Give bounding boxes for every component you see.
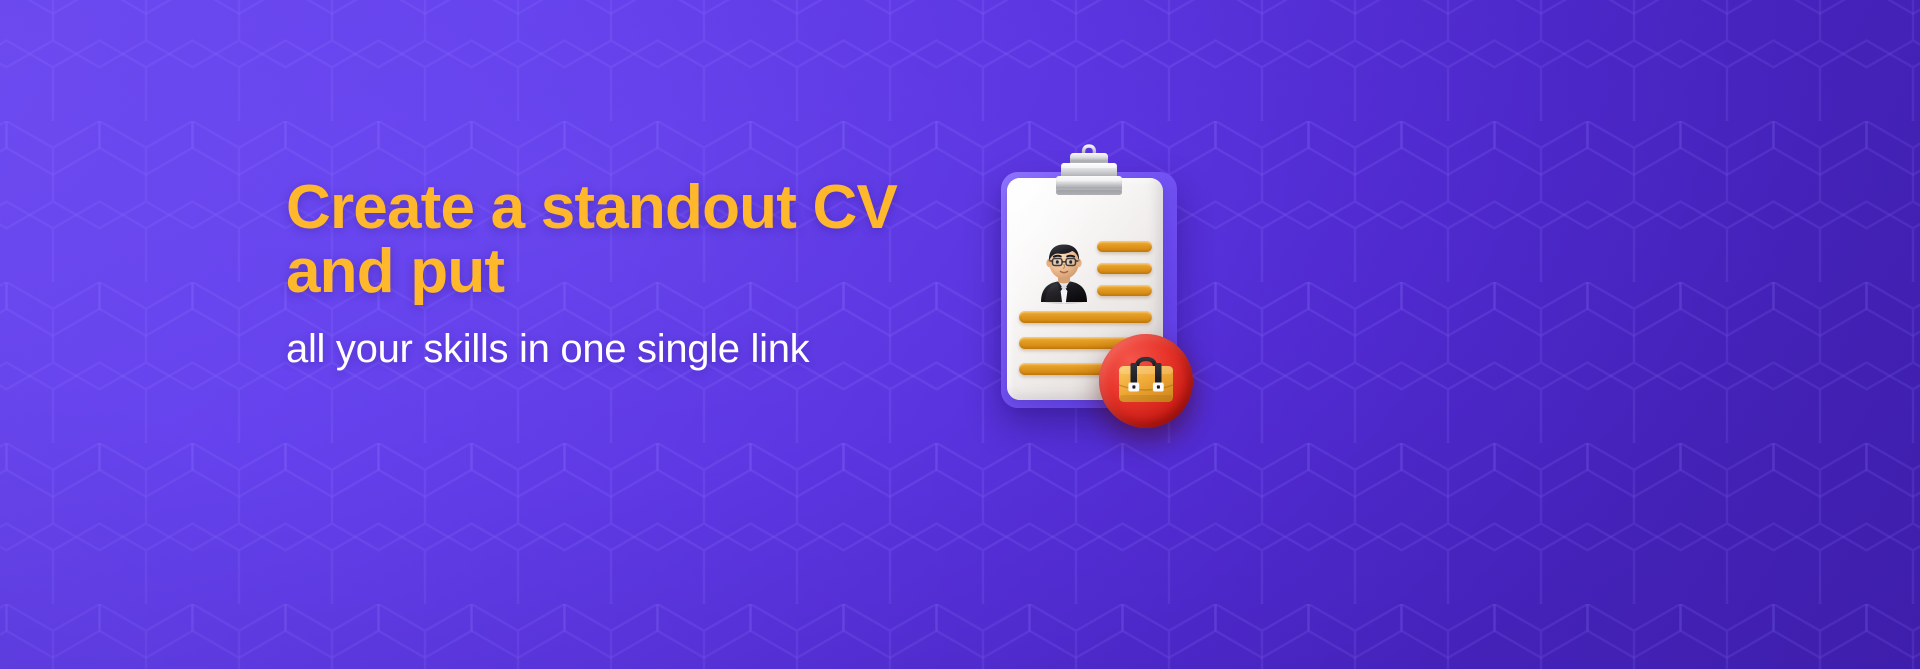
text-bar-short (1097, 263, 1152, 274)
text-bar-short (1097, 241, 1152, 252)
headline: Create a standout CV and put (286, 176, 1046, 305)
text-bar-long (1019, 311, 1152, 323)
cv-promo-banner: Create a standout CV and put all your sk… (0, 0, 1920, 669)
text-bar-short (1097, 285, 1152, 296)
briefcase-badge (1099, 334, 1193, 428)
person-avatar (1036, 238, 1092, 304)
cv-clipboard-illustration (985, 128, 1225, 448)
copy-block: Create a standout CV and put all your sk… (286, 176, 1046, 372)
subheadline: all your skills in one single link (286, 327, 1046, 372)
clipboard-clip-icon (1047, 142, 1131, 198)
briefcase-icon (1116, 354, 1176, 408)
